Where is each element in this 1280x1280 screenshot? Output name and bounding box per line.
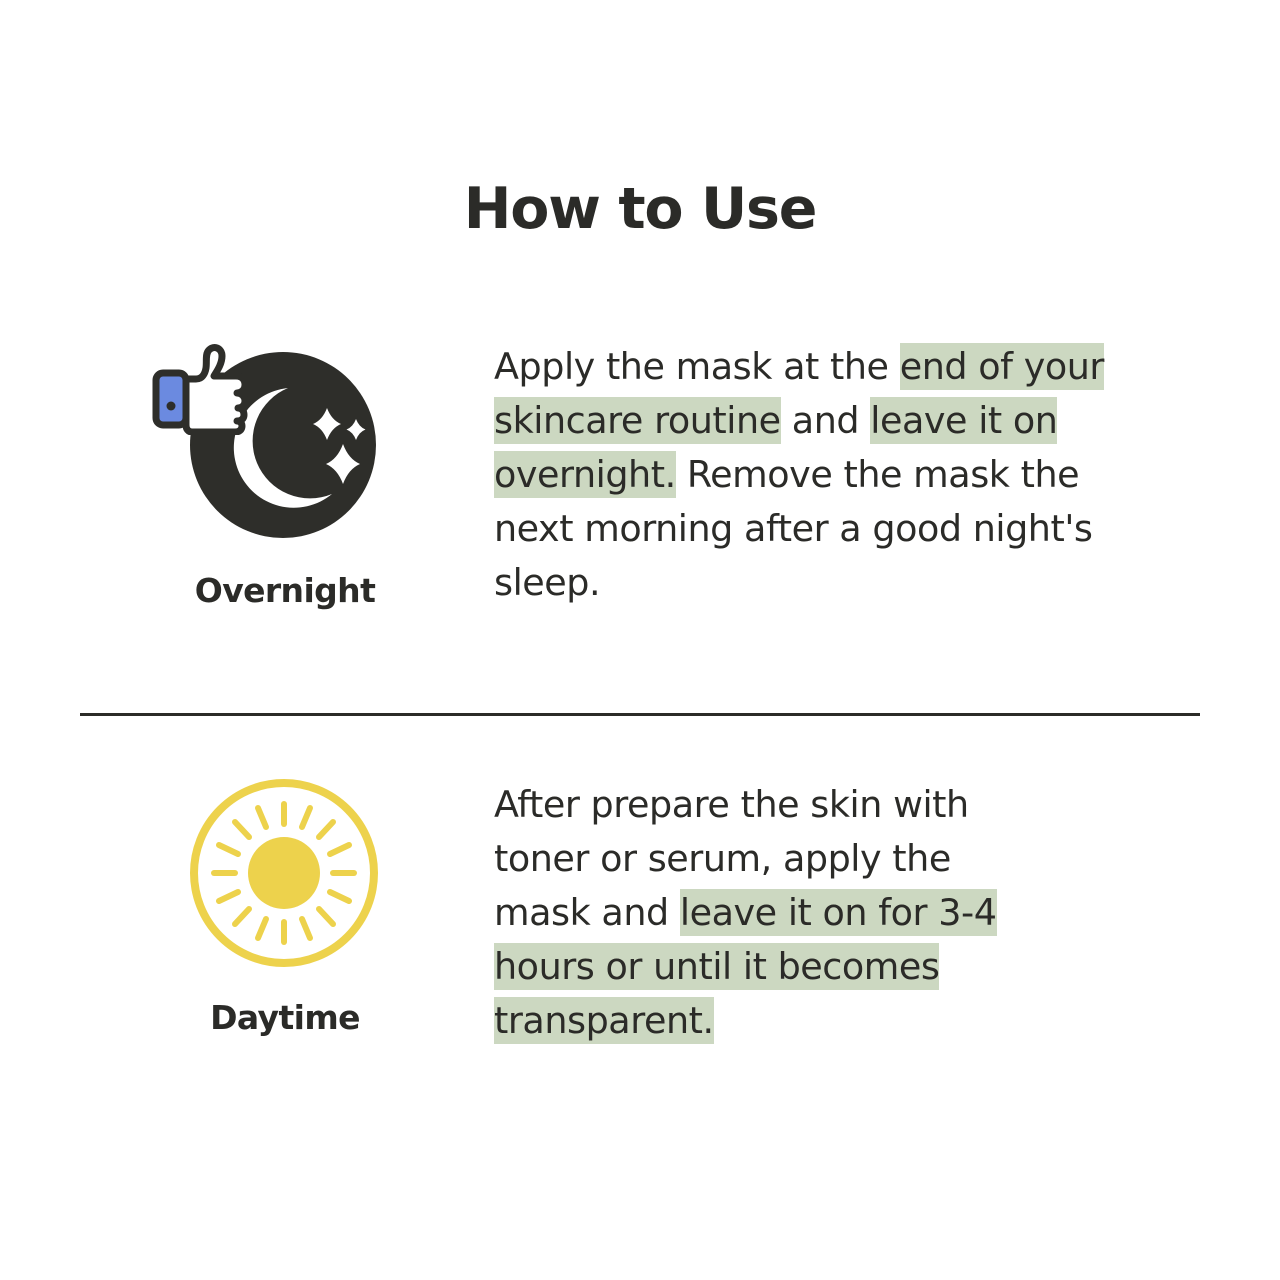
section-divider	[80, 713, 1200, 716]
overnight-text-column: Apply the mask at the end of your skinca…	[494, 340, 1114, 610]
overnight-body-text: Apply the mask at the end of your skinca…	[494, 340, 1104, 610]
page-title: How to Use	[0, 178, 1280, 241]
daytime-body-text: After prepare the skin with toner or ser…	[494, 778, 1039, 1048]
highlighted-text: leave it on for 3-4 hours or until it be…	[494, 889, 997, 1044]
sun-icon	[140, 778, 430, 993]
daytime-label: Daytime	[140, 998, 430, 1037]
overnight-label: Overnight	[140, 571, 430, 610]
daytime-text-column: After prepare the skin with toner or ser…	[494, 778, 1114, 1048]
thumbs-up-icon	[152, 343, 252, 435]
how-to-use-page: How to Use	[0, 0, 1280, 1280]
